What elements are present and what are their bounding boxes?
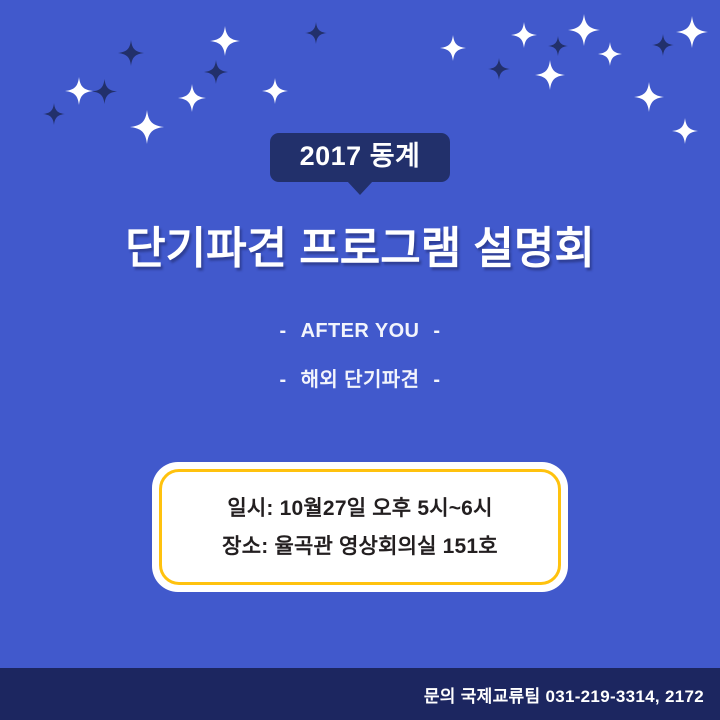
poster-canvas: 2017 동계 단기파견 프로그램 설명회 -AFTER YOU- -해외 단기… [0,0,720,720]
sparkle-star-icon [440,35,466,61]
dash-left-icon: - [266,320,301,343]
sparkle-star-icon [118,40,144,66]
sparkle-star-icon [305,22,327,44]
sparkle-star-icon [676,16,708,48]
sparkle-star-icon [92,79,117,104]
sparkle-star-icon [598,42,622,66]
event-info-inner-border: 일시: 10월27일 오후 5시~6시 장소: 율곡관 영상회의실 151호 [159,469,561,585]
page-title: 단기파견 프로그램 설명회 [0,224,720,275]
season-badge-label: 2017 동계 [300,141,421,171]
sparkle-star-icon [210,26,240,56]
subtitle-text-1: AFTER YOU [301,320,420,342]
sparkle-star-icon [652,34,674,56]
footer-bar: 문의 국제교류팀 031-219-3314, 2172 [0,668,720,720]
season-badge: 2017 동계 [270,133,451,182]
event-datetime-line: 일시: 10월27일 오후 5시~6시 [227,498,492,519]
sparkle-star-icon [43,103,65,125]
sparkle-star-icon [65,77,93,105]
sparkle-star-icon [204,60,228,84]
subtitle-overseas: -해외 단기파견- [0,363,720,392]
footer-contact-text: 문의 국제교류팀 031-219-3314, 2172 [424,682,720,707]
subtitle-after-you: -AFTER YOU- [0,320,720,343]
sparkle-star-icon [178,84,206,112]
sparkle-star-icon [634,82,664,112]
sparkle-star-icon [548,36,568,56]
badge-container: 2017 동계 [0,133,720,182]
sparkle-star-icon [488,58,510,80]
sparkle-star-icon [262,78,288,104]
dash-right-icon: - [419,369,454,392]
dash-left-icon: - [266,369,301,392]
event-info-box: 일시: 10월27일 오후 5시~6시 장소: 율곡관 영상회의실 151호 [152,462,568,592]
badge-tail-icon [347,181,373,195]
sparkle-star-icon [535,60,565,90]
dash-right-icon: - [419,320,454,343]
subtitle-text-2: 해외 단기파견 [301,369,420,391]
sparkle-star-icon [568,14,600,46]
event-location-line: 장소: 율곡관 영상회의실 151호 [222,536,498,557]
sparkle-star-icon [511,22,537,48]
